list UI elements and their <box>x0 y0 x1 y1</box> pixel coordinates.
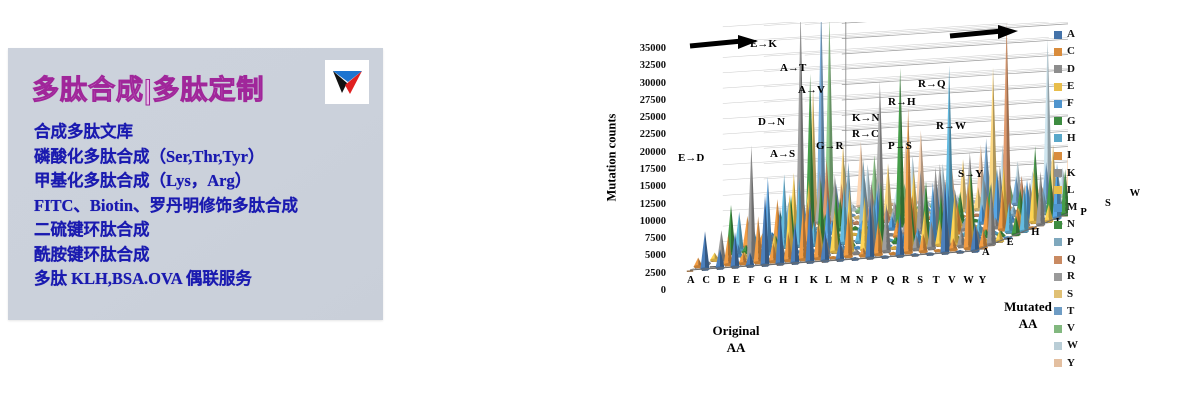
x-axis-tick-label: T <box>933 275 940 286</box>
legend-label: P <box>1067 237 1074 248</box>
legend-swatch-icon <box>1054 342 1062 350</box>
x-axis-tick-label: C <box>702 275 710 286</box>
list-item: 二硫键环肽合成 <box>34 218 373 243</box>
gridline <box>842 50 1068 69</box>
legend-item[interactable]: F <box>1054 95 1114 112</box>
y-axis-tick: 30000 <box>640 79 666 89</box>
legend-swatch-icon <box>1054 48 1062 56</box>
legend-swatch-icon <box>1054 169 1062 177</box>
legend-swatch-icon <box>1054 256 1062 264</box>
legend: ACDEFGHIKLMNPQRSTVWY <box>1054 26 1114 372</box>
y-axis-ticks: 3500032500300002750025000225002000017500… <box>610 44 666 286</box>
peak-annotation: R→H <box>888 96 916 108</box>
legend-label: R <box>1067 271 1075 282</box>
legend-item[interactable]: W <box>1054 337 1114 354</box>
gridline <box>842 81 1068 100</box>
legend-swatch-icon <box>1054 117 1062 125</box>
legend-label: K <box>1067 168 1076 179</box>
x-axis-tick-label: I <box>794 275 798 286</box>
legend-item[interactable]: V <box>1054 320 1114 337</box>
peak-annotation: G→R <box>816 140 844 152</box>
legend-swatch-icon <box>1054 359 1062 367</box>
gridline <box>805 97 1068 116</box>
legend-swatch-icon <box>1054 65 1062 73</box>
y-axis-tick: 35000 <box>640 44 666 54</box>
list-item: 酰胺键环肽合成 <box>34 243 373 268</box>
list-item: 磷酸化多肽合成（Ser,Thr,Tyr） <box>34 145 373 170</box>
gridline <box>842 142 1068 161</box>
x-axis-tick-label: F <box>748 275 754 286</box>
y-axis-tick: 10000 <box>640 217 666 227</box>
peak-annotation: A→S <box>770 148 795 160</box>
y-axis-tick: 20000 <box>640 148 666 158</box>
cone-bar <box>700 231 709 270</box>
y-axis-tick: 32500 <box>640 61 666 71</box>
x-axis-tick-label: E <box>733 275 740 286</box>
gridline <box>723 84 1008 103</box>
legend-label: I <box>1067 150 1071 161</box>
y-axis-tick: 7500 <box>645 234 666 244</box>
legend-swatch-icon <box>1054 83 1062 91</box>
legend-item[interactable]: N <box>1054 216 1114 233</box>
x-axis-tick-label: V <box>948 275 956 286</box>
x-axis-tick-label: W <box>963 275 974 286</box>
x-axis-tick-label: M <box>841 275 851 286</box>
peak-annotation: K→N <box>852 112 880 124</box>
legend-item[interactable]: I <box>1054 147 1114 164</box>
legend-label: H <box>1067 133 1076 144</box>
x-axis-tick-label: S <box>917 275 923 286</box>
gridline <box>805 22 1068 40</box>
legend-item[interactable]: Q <box>1054 251 1114 268</box>
z-axis-tick-label: H <box>1031 227 1039 238</box>
x-axis-tick-label: D <box>718 275 726 286</box>
legend-item[interactable]: G <box>1054 112 1114 129</box>
x-axis-tick-label: Q <box>887 275 895 286</box>
x-axis-tick-label: L <box>825 275 832 286</box>
legend-swatch-icon <box>1054 221 1062 229</box>
x-axis-tick-label: K <box>810 275 818 286</box>
legend-label: S <box>1067 289 1073 300</box>
legend-swatch-icon <box>1054 152 1062 160</box>
x-axis-title: OriginalAA <box>676 322 796 356</box>
peak-annotation: A→T <box>780 62 806 74</box>
x-axis-tick-label: R <box>902 275 910 286</box>
promo-panel: 多肽合成|多肽定制 合成多肽文库 磷酸化多肽合成（Ser,Thr,Tyr） 甲基… <box>8 48 383 320</box>
y-axis-tick: 2500 <box>645 269 666 279</box>
legend-item[interactable]: P <box>1054 234 1114 251</box>
y-axis-tick: 0 <box>661 286 666 296</box>
z-axis-tick-label: W <box>1130 188 1141 199</box>
x-axis-tick-label: Y <box>979 275 987 286</box>
legend-label: W <box>1067 340 1078 351</box>
legend-item[interactable]: D <box>1054 61 1114 78</box>
right-trend-arrow <box>948 24 1020 49</box>
peak-annotation: S→Y <box>958 168 983 180</box>
y-axis-tick: 12500 <box>640 200 666 210</box>
gridline <box>805 51 1068 70</box>
left-trend-arrow <box>688 34 760 59</box>
legend-swatch-icon <box>1054 100 1062 108</box>
mutation-counts-3d-chart: Mutation counts 350003250030000275002500… <box>580 0 1200 400</box>
legend-swatch-icon <box>1054 307 1062 315</box>
legend-item[interactable]: R <box>1054 268 1114 285</box>
legend-swatch-icon <box>1054 186 1062 194</box>
legend-swatch-icon <box>1054 273 1062 281</box>
legend-swatch-icon <box>1054 238 1062 246</box>
list-item: 甲基化多肽合成（Lys，Arg） <box>34 169 373 194</box>
legend-item[interactable]: T <box>1054 303 1114 320</box>
peak-annotation: R→W <box>936 120 966 132</box>
legend-label: L <box>1067 185 1074 196</box>
list-item: 合成多肽文库 <box>34 120 373 145</box>
plot-area <box>668 22 1068 322</box>
legend-label: G <box>1067 116 1076 127</box>
cone-bar <box>883 163 892 217</box>
y-axis-tick: 17500 <box>640 165 666 175</box>
legend-item[interactable]: E <box>1054 78 1114 95</box>
peak-annotation: D→N <box>758 116 785 128</box>
legend-swatch-icon <box>1054 204 1062 212</box>
legend-item[interactable]: Y <box>1054 355 1114 372</box>
z-axis-tick-label: E <box>1007 237 1014 248</box>
tricolor-chevron-logo-icon <box>325 60 369 104</box>
legend-label: M <box>1067 202 1077 213</box>
legend-item[interactable]: K <box>1054 164 1114 181</box>
screenshot-root: 多肽合成|多肽定制 合成多肽文库 磷酸化多肽合成（Ser,Thr,Tyr） 甲基… <box>0 0 1200 400</box>
legend-label: E <box>1067 81 1074 92</box>
y-axis-tick: 25000 <box>640 113 666 123</box>
legend-label: F <box>1067 98 1074 109</box>
legend-swatch-icon <box>1054 290 1062 298</box>
y-axis-tick: 22500 <box>640 130 666 140</box>
list-item: 多肽 KLH,BSA.OVA 偶联服务 <box>34 267 373 292</box>
gridline <box>723 54 1008 73</box>
legend-item[interactable]: S <box>1054 285 1114 302</box>
legend-label: V <box>1067 323 1075 334</box>
legend-label: N <box>1067 219 1075 230</box>
legend-label: A <box>1067 29 1075 40</box>
z-axis-tick-label: A <box>982 247 990 258</box>
legend-label: Q <box>1067 254 1076 265</box>
peak-annotation: A→V <box>798 84 825 96</box>
x-axis-tick-label: N <box>856 275 864 286</box>
x-axis-tick-label: P <box>871 275 877 286</box>
legend-swatch-icon <box>1054 31 1062 39</box>
gridline <box>723 69 1008 88</box>
x-axis-tick-label: G <box>764 275 772 286</box>
z-axis-title-text: MutatedAA <box>1004 299 1052 331</box>
legend-label: C <box>1067 46 1075 57</box>
legend-item[interactable]: L <box>1054 182 1114 199</box>
peak-annotation: R→Q <box>918 78 946 90</box>
service-list: 合成多肽文库 磷酸化多肽合成（Ser,Thr,Tyr） 甲基化多肽合成（Lys，… <box>34 120 373 292</box>
y-axis-tick: 15000 <box>640 182 666 192</box>
legend-label: D <box>1067 64 1075 75</box>
gridline <box>805 143 1068 162</box>
legend-item[interactable]: M <box>1054 199 1114 216</box>
legend-item[interactable]: C <box>1054 43 1114 60</box>
page-title: 多肽合成|多肽定制 <box>32 68 265 107</box>
peak-annotation: P→S <box>888 140 912 152</box>
peak-annotation: R→C <box>852 128 879 140</box>
gridline <box>805 36 1068 55</box>
list-item: FITC、Biotin、罗丹明修饰多肽合成 <box>34 194 373 219</box>
x-axis-tick-label: A <box>687 275 695 286</box>
legend-item[interactable]: A <box>1054 26 1114 43</box>
legend-swatch-icon <box>1054 325 1062 333</box>
legend-swatch-icon <box>1054 134 1062 142</box>
x-axis-tick-label: H <box>779 275 787 286</box>
gridline <box>842 66 1068 85</box>
peak-annotation: E→D <box>678 152 704 164</box>
legend-item[interactable]: H <box>1054 130 1114 147</box>
legend-label: T <box>1067 306 1074 317</box>
y-axis-tick: 5000 <box>645 251 666 261</box>
y-axis-tick: 27500 <box>640 96 666 106</box>
gridline <box>723 146 1008 165</box>
legend-label: Y <box>1067 358 1075 369</box>
x-axis-title-text: OriginalAA <box>713 323 760 355</box>
